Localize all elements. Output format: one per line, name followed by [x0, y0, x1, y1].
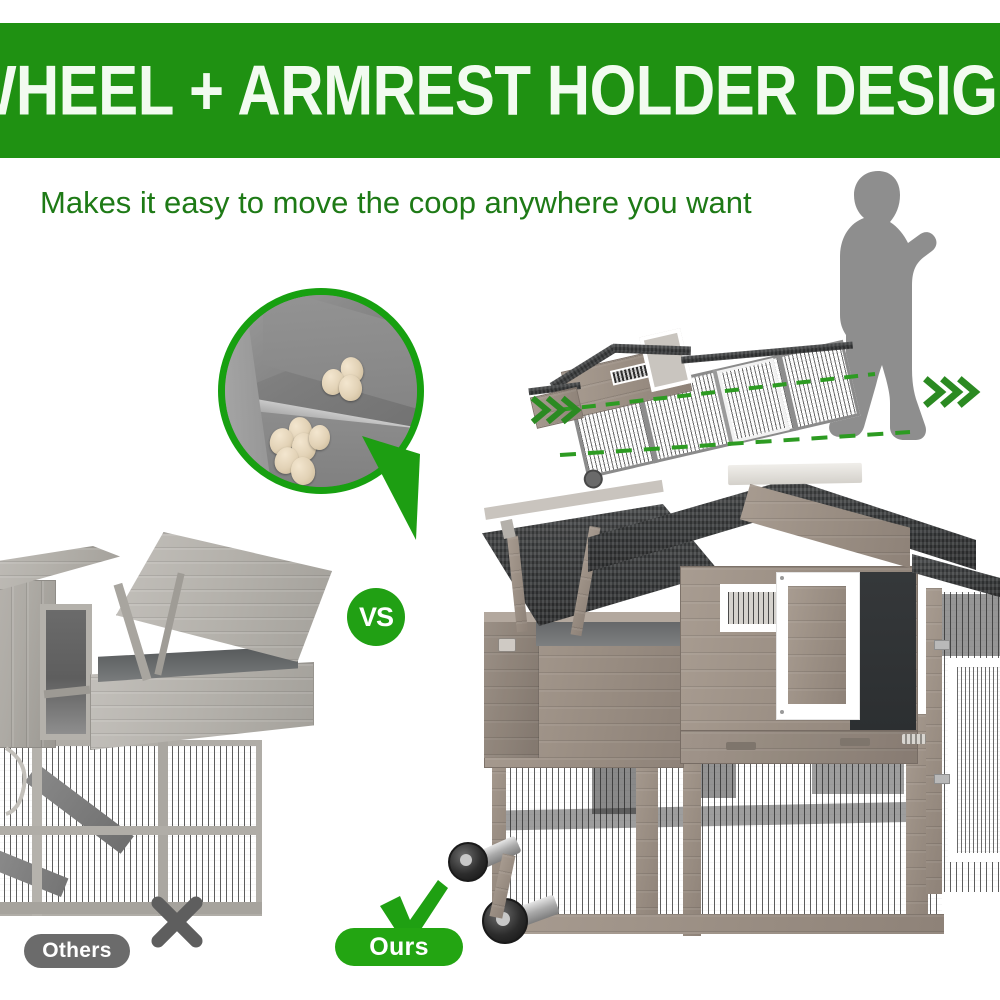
ours-door-panel-inner [788, 586, 846, 704]
others-doorway [40, 604, 92, 740]
ours-lid-hinge [500, 519, 515, 539]
others-hook-icon [0, 744, 34, 824]
ours-hinge [934, 640, 950, 650]
chevron-right-icon-group-right [922, 372, 984, 412]
chevron-right-icon-group-left [530, 392, 586, 428]
ours-label-pill: Ours [335, 928, 463, 966]
ours-pullout-tray [680, 730, 918, 764]
demo-scene-person-pulling-coop [530, 160, 1000, 480]
ours-run-bottom-rail [492, 914, 944, 934]
motion-dashed-lines [530, 160, 1000, 480]
ours-door-screw [780, 576, 784, 580]
ours-hinge [934, 774, 950, 784]
others-run-rail [0, 902, 262, 914]
header-banner: WHEEL + ARMREST HOLDER DESIGN [0, 23, 1000, 158]
ours-latch-icon [498, 638, 516, 652]
others-nesting-box-lid [116, 532, 332, 662]
vs-badge: VS [347, 588, 405, 646]
ours-label-text: Ours [369, 933, 429, 962]
ours-tray-handle [726, 742, 756, 750]
vs-label: VS [359, 602, 393, 633]
ours-run-ext-post [926, 588, 942, 894]
others-run-rail [0, 826, 262, 835]
page-title: WHEEL + ARMREST HOLDER DESIGN [0, 55, 1000, 126]
ours-caster-hub-upper [460, 854, 472, 866]
ours-chicken-coop [440, 462, 1000, 940]
others-label-pill: Others [24, 934, 130, 968]
others-roof [0, 546, 120, 590]
ours-tray-latch-icon [902, 734, 926, 744]
x-mark-icon [148, 893, 206, 951]
ours-door-screw [780, 710, 784, 714]
ours-tray-handle [840, 738, 870, 746]
ours-run-door [948, 658, 1000, 862]
ours-roof-ridge [728, 463, 862, 485]
others-chicken-coop [0, 528, 350, 928]
others-label-text: Others [42, 939, 112, 963]
